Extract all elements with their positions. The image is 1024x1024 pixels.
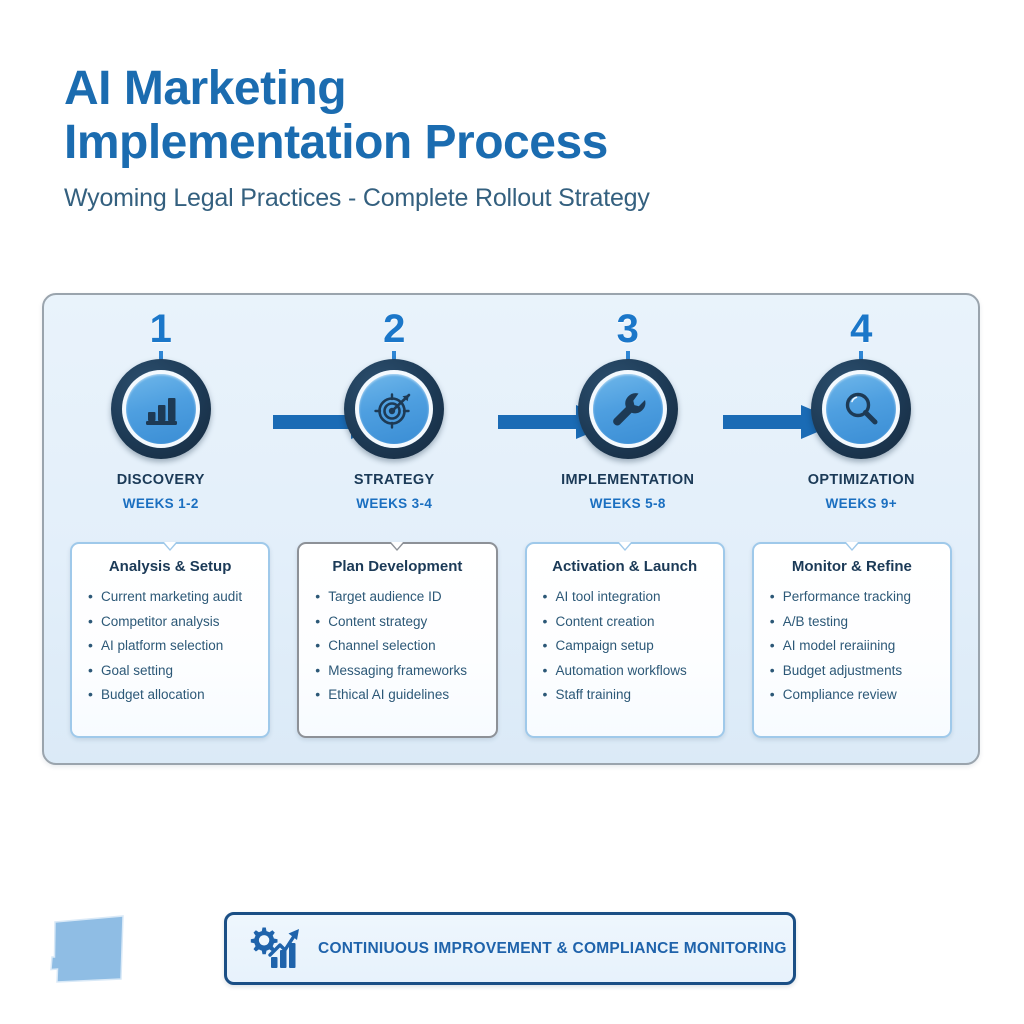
list-item: Compliance review — [770, 688, 940, 702]
detail-card-monitor-refine[interactable]: Monitor & Refine Performance tracking A/… — [752, 542, 952, 738]
card-item-list: Current marketing audit Competitor analy… — [82, 590, 258, 702]
list-item: Automation workflows — [543, 664, 713, 678]
card-notch — [617, 542, 633, 551]
step-icon-ring — [111, 359, 211, 459]
step-weeks: WEEKS 1-2 — [123, 496, 199, 511]
step-number: 4 — [850, 309, 872, 349]
step-label: OPTIMIZATION — [808, 472, 915, 488]
list-item: Performance tracking — [770, 590, 940, 604]
list-item: Campaign setup — [543, 639, 713, 653]
card-item-list: AI tool integration Content creation Cam… — [537, 590, 713, 702]
target-icon — [373, 388, 415, 430]
step-4-optimization[interactable]: 4 OPTIMIZATION WEEKS 9+ — [745, 309, 979, 511]
banner-label: CONTINIUOUS IMPROVEMENT & COMPLIANCE MON… — [318, 940, 787, 958]
list-item: AI tool integration — [543, 590, 713, 604]
detail-cards-row: Analysis & Setup Current marketing audit… — [70, 542, 952, 738]
card-item-list: Target audience ID Content strategy Chan… — [309, 590, 485, 702]
step-label: STRATEGY — [354, 472, 435, 488]
steps-row: 1 — [44, 309, 978, 511]
step-icon-ring — [811, 359, 911, 459]
list-item: Ethical AI guidelines — [315, 688, 485, 702]
step-2-strategy[interactable]: 2 — [278, 309, 512, 511]
card-item-list: Performance tracking A/B testing AI mode… — [764, 590, 940, 702]
step-icon-ring — [578, 359, 678, 459]
card-notch — [162, 542, 178, 551]
list-item: Budget allocation — [88, 688, 258, 702]
list-item: AI model reraiining — [770, 639, 940, 653]
list-item: Messaging frameworks — [315, 664, 485, 678]
card-notch — [844, 542, 860, 551]
step-number: 1 — [150, 309, 172, 349]
step-weeks: WEEKS 5-8 — [590, 496, 666, 511]
detail-card-activation-launch[interactable]: Activation & Launch AI tool integration … — [525, 542, 725, 738]
page-title: AI Marketing Implementation Process — [64, 62, 944, 170]
magnifier-icon — [840, 388, 882, 430]
continuous-improvement-banner[interactable]: CONTINIUOUS IMPROVEMENT & COMPLIANCE MON… — [224, 912, 796, 985]
card-notch — [389, 542, 405, 551]
card-title: Monitor & Refine — [764, 558, 940, 575]
step-number: 2 — [383, 309, 405, 349]
step-number: 3 — [617, 309, 639, 349]
ring-inner — [593, 374, 663, 444]
list-item: Staff training — [543, 688, 713, 702]
card-title: Analysis & Setup — [82, 558, 258, 575]
gear-growth-chart-icon — [243, 921, 305, 976]
detail-card-analysis-setup[interactable]: Analysis & Setup Current marketing audit… — [70, 542, 270, 738]
step-label: IMPLEMENTATION — [561, 472, 694, 488]
wrench-icon — [607, 388, 649, 430]
list-item: Budget adjustments — [770, 664, 940, 678]
card-title: Activation & Launch — [537, 558, 713, 575]
wyoming-state-outline-icon — [49, 913, 127, 985]
list-item: Current marketing audit — [88, 590, 258, 604]
step-3-implementation[interactable]: 3 IMPLEMENTATION WEEKS 5-8 — [511, 309, 745, 511]
page-subtitle: Wyoming Legal Practices - Complete Rollo… — [64, 184, 944, 213]
ring-inner — [826, 374, 896, 444]
list-item: Channel selection — [315, 639, 485, 653]
card-title: Plan Development — [309, 558, 485, 575]
list-item: Goal setting — [88, 664, 258, 678]
bar-chart-icon — [140, 388, 182, 430]
step-weeks: WEEKS 3-4 — [356, 496, 432, 511]
step-1-discovery[interactable]: 1 — [44, 309, 278, 511]
list-item: Target audience ID — [315, 590, 485, 604]
detail-card-plan-development[interactable]: Plan Development Target audience ID Cont… — [297, 542, 497, 738]
list-item: AI platform selection — [88, 639, 258, 653]
step-label: DISCOVERY — [117, 472, 205, 488]
step-icon-ring — [344, 359, 444, 459]
list-item: Competitor analysis — [88, 615, 258, 629]
ring-inner — [359, 374, 429, 444]
list-item: A/B testing — [770, 615, 940, 629]
step-weeks: WEEKS 9+ — [826, 496, 897, 511]
list-item: Content strategy — [315, 615, 485, 629]
list-item: Content creation — [543, 615, 713, 629]
process-panel: 1 — [42, 293, 980, 765]
ring-inner — [126, 374, 196, 444]
header: AI Marketing Implementation Process Wyom… — [64, 62, 944, 213]
